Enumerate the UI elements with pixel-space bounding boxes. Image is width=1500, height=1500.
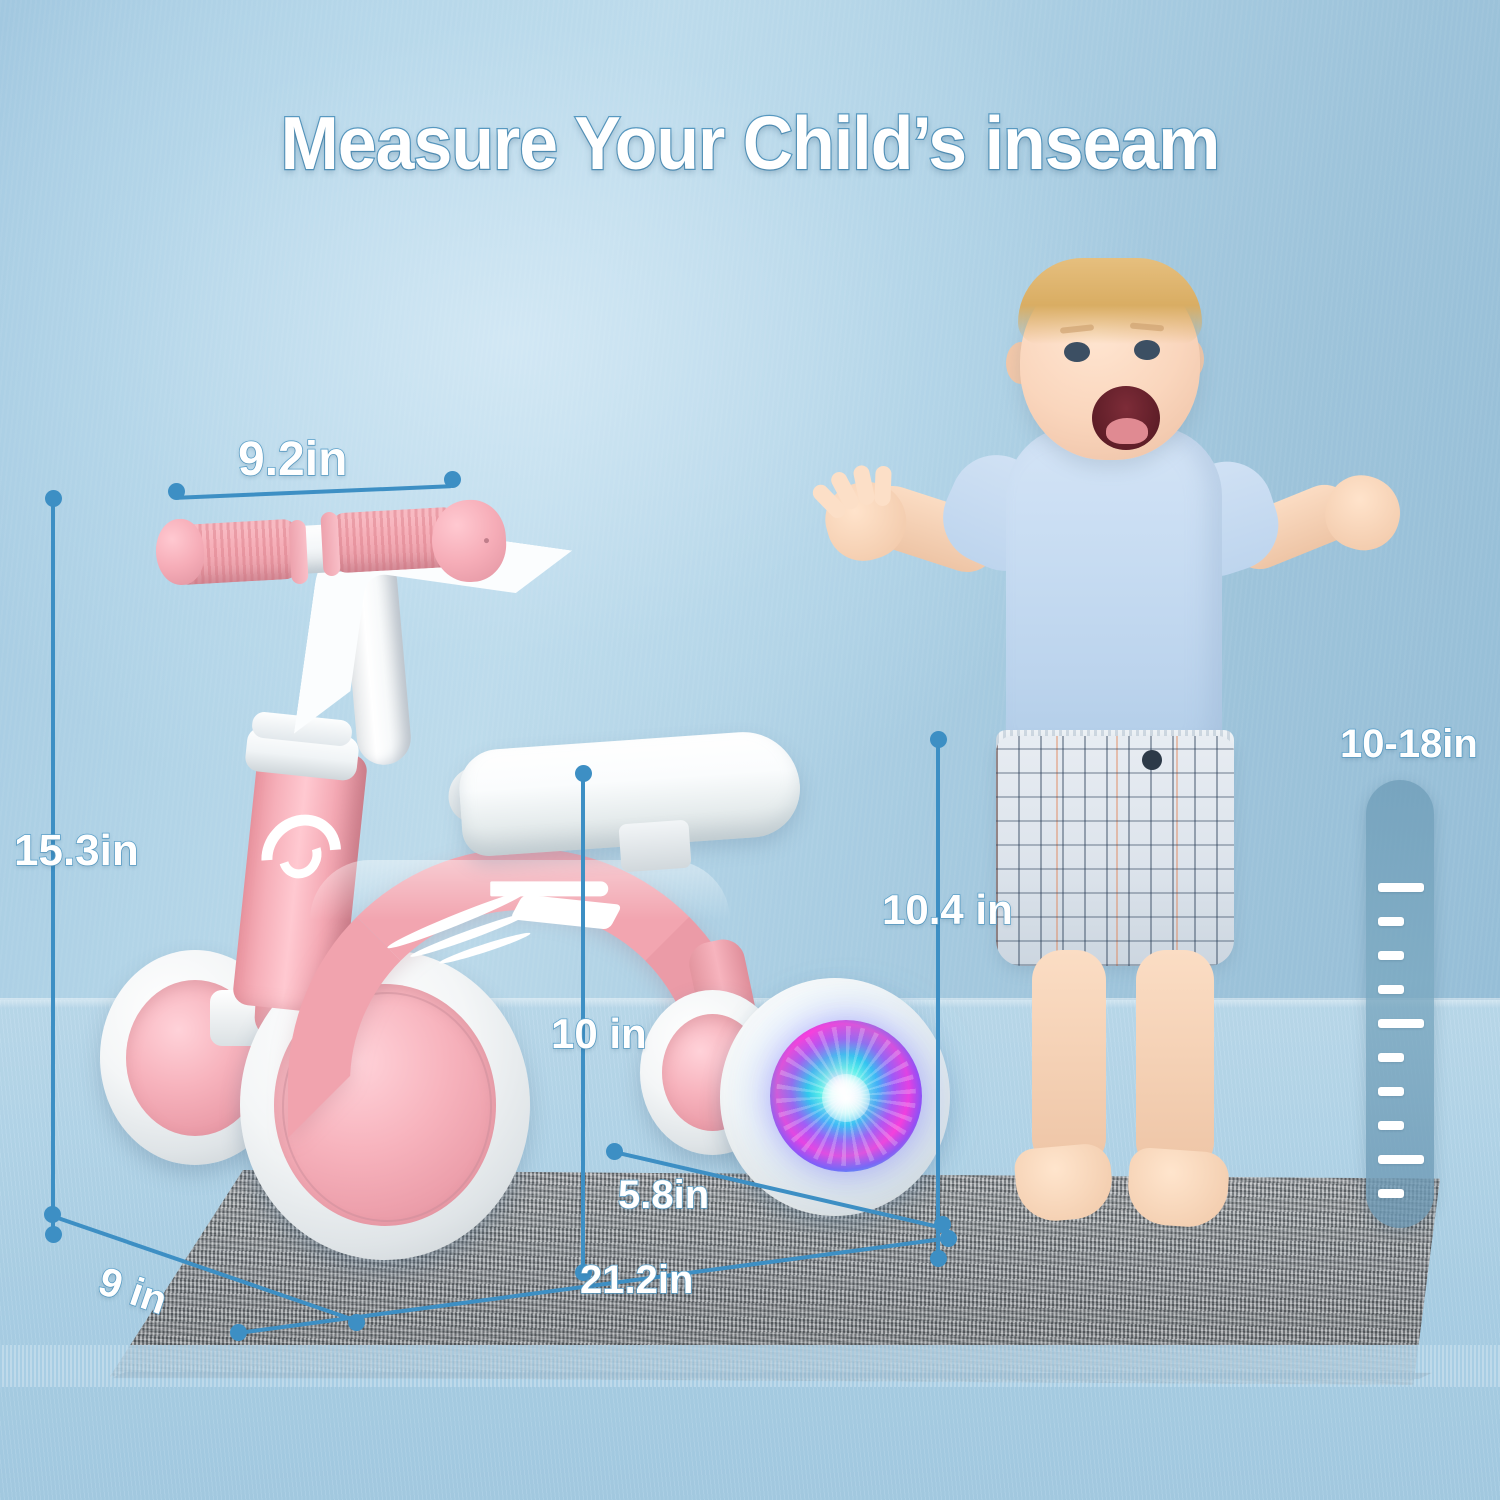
ruler-tick xyxy=(1378,1087,1404,1096)
dimension-endpoint xyxy=(230,1324,247,1341)
measuring-ruler xyxy=(1366,780,1434,1228)
ruler-tick xyxy=(1378,917,1404,926)
dimension-endpoint xyxy=(930,1250,947,1267)
dimension-endpoint xyxy=(45,1226,62,1243)
ruler-range-label: 10-18in xyxy=(1340,722,1478,767)
dimension-label-overall-height: 15.3in xyxy=(14,826,139,876)
child-leg-right xyxy=(1136,950,1214,1172)
dimension-endpoint xyxy=(940,1230,957,1247)
dimension-endpoint xyxy=(606,1143,623,1160)
ruler-tick xyxy=(1378,883,1424,892)
page-title: Measure Your Child’s inseam xyxy=(53,100,1448,186)
ruler-tick xyxy=(1378,1053,1404,1062)
swirl-logo-icon xyxy=(256,805,330,889)
child-foot-left xyxy=(1013,1142,1115,1224)
child-eye-right xyxy=(1134,340,1160,360)
ruler-tick xyxy=(1378,985,1404,994)
ruler-tick xyxy=(1378,1189,1404,1198)
dimension-label-seat-height: 10 in xyxy=(551,1010,647,1058)
dimension-label-overall-length: 21.2in xyxy=(580,1258,693,1303)
child-eye-left xyxy=(1064,342,1090,362)
dimension-line-child-inseam xyxy=(936,738,940,1258)
dimension-label-rear-track: 5.8in xyxy=(618,1173,709,1218)
ruler-tick xyxy=(1378,951,1404,960)
dimension-endpoint xyxy=(44,1206,61,1223)
dimension-label-child-inseam: 10.4 in xyxy=(882,886,1013,934)
seat-post xyxy=(618,820,691,873)
dimension-endpoint xyxy=(930,731,947,748)
child-hand-right xyxy=(1316,466,1409,559)
dimension-endpoint xyxy=(444,471,461,488)
dimension-endpoint xyxy=(45,490,62,507)
ruler-tick xyxy=(1378,1155,1424,1164)
child-leg-left xyxy=(1032,950,1106,1168)
ruler-tick xyxy=(1378,1121,1404,1130)
balance-bike-product xyxy=(60,470,940,1300)
child-torso-shirt xyxy=(1006,426,1222,756)
dimension-label-handlebar-width: 9.2in xyxy=(238,432,347,487)
child-photo xyxy=(820,250,1420,1290)
child-hair xyxy=(1018,258,1202,344)
grip-ring-inner-right xyxy=(320,512,340,577)
floor-mat-band xyxy=(0,1345,1500,1387)
infographic-canvas: Measure Your Child’s inseam xyxy=(0,0,1500,1500)
child-shorts-button xyxy=(1142,750,1162,770)
dimension-endpoint xyxy=(168,483,185,500)
child-shorts xyxy=(996,736,1234,966)
child-tongue xyxy=(1106,418,1148,444)
child-foot-right xyxy=(1125,1147,1230,1230)
grip-ring-inner-left xyxy=(288,520,308,585)
dimension-endpoint xyxy=(575,765,592,782)
ruler-tick xyxy=(1378,1019,1424,1028)
